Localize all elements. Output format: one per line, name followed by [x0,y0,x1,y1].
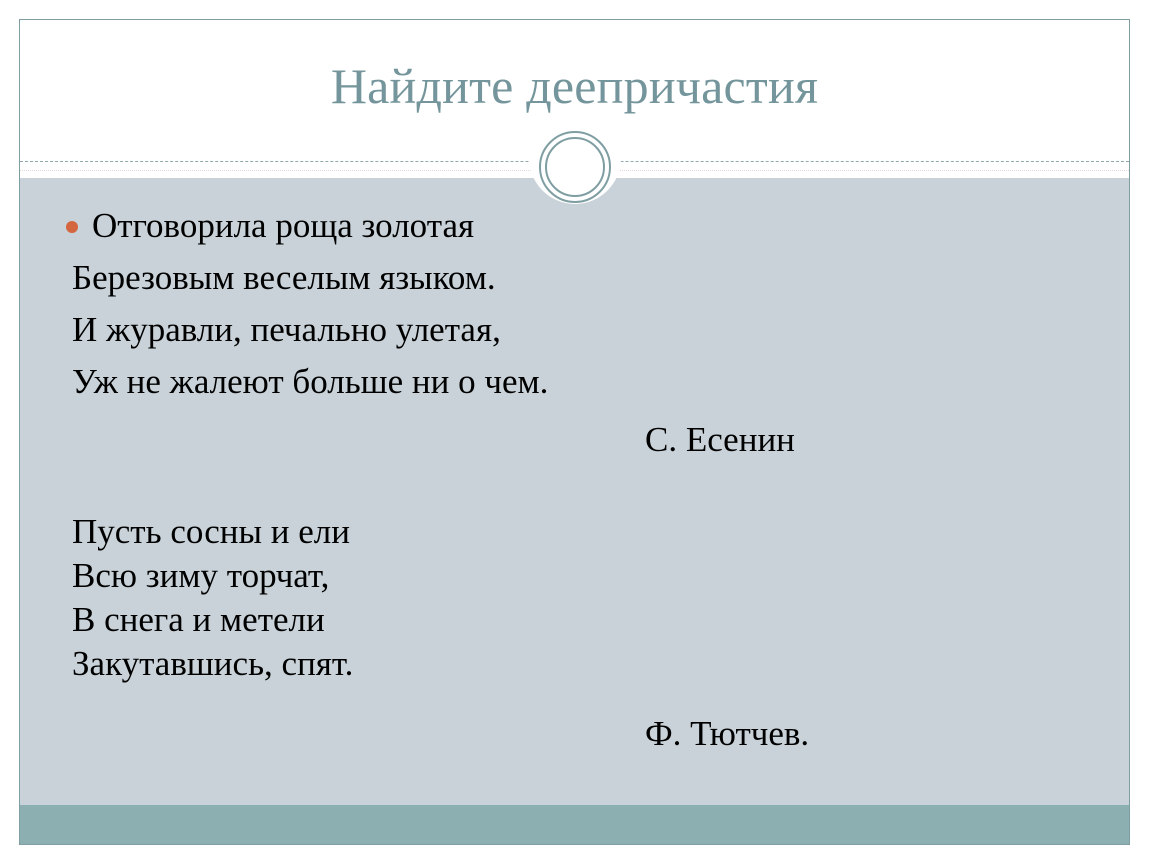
slide: Найдите деепричастия Отговорила роща зол… [19,19,1130,845]
poem-line: Пусть сосны и ели [72,510,1089,554]
page-title: Найдите деепричастия [20,57,1129,115]
attribution-esenin: С. Есенин [52,414,1089,466]
list-item: И журавли, печально улетая, [52,304,1089,356]
poem-line: Всю зиму торчат, [72,554,1089,598]
poem-line: Березовым веселым языком. [72,258,496,297]
poem-line: И журавли, печально улетая, [72,310,501,349]
stanza-one-list: Отговорила роща золотая Березовым веселы… [52,200,1089,408]
poem-line: Уж не жалеют больше ни о чем. [72,362,548,401]
poem-line: В снега и метели [72,598,1089,642]
list-item: Уж не жалеют больше ни о чем. [52,356,1089,408]
stanza-two-block: Пусть сосны и ели Всю зиму торчат, В сне… [52,510,1089,686]
footer-accent-bar [20,805,1129,844]
list-item: Березовым веселым языком. [52,252,1089,304]
poem-line: Отговорила роща золотая [92,206,474,245]
slide-content: Отговорила роща золотая Березовым веселы… [20,178,1129,805]
list-item: Отговорила роща золотая [52,200,1089,252]
poem-line: Закутавшись, спят. [72,642,1089,686]
bullet-dot-icon [66,221,78,233]
attribution-tyutchev: Ф. Тютчев. [52,708,1089,760]
